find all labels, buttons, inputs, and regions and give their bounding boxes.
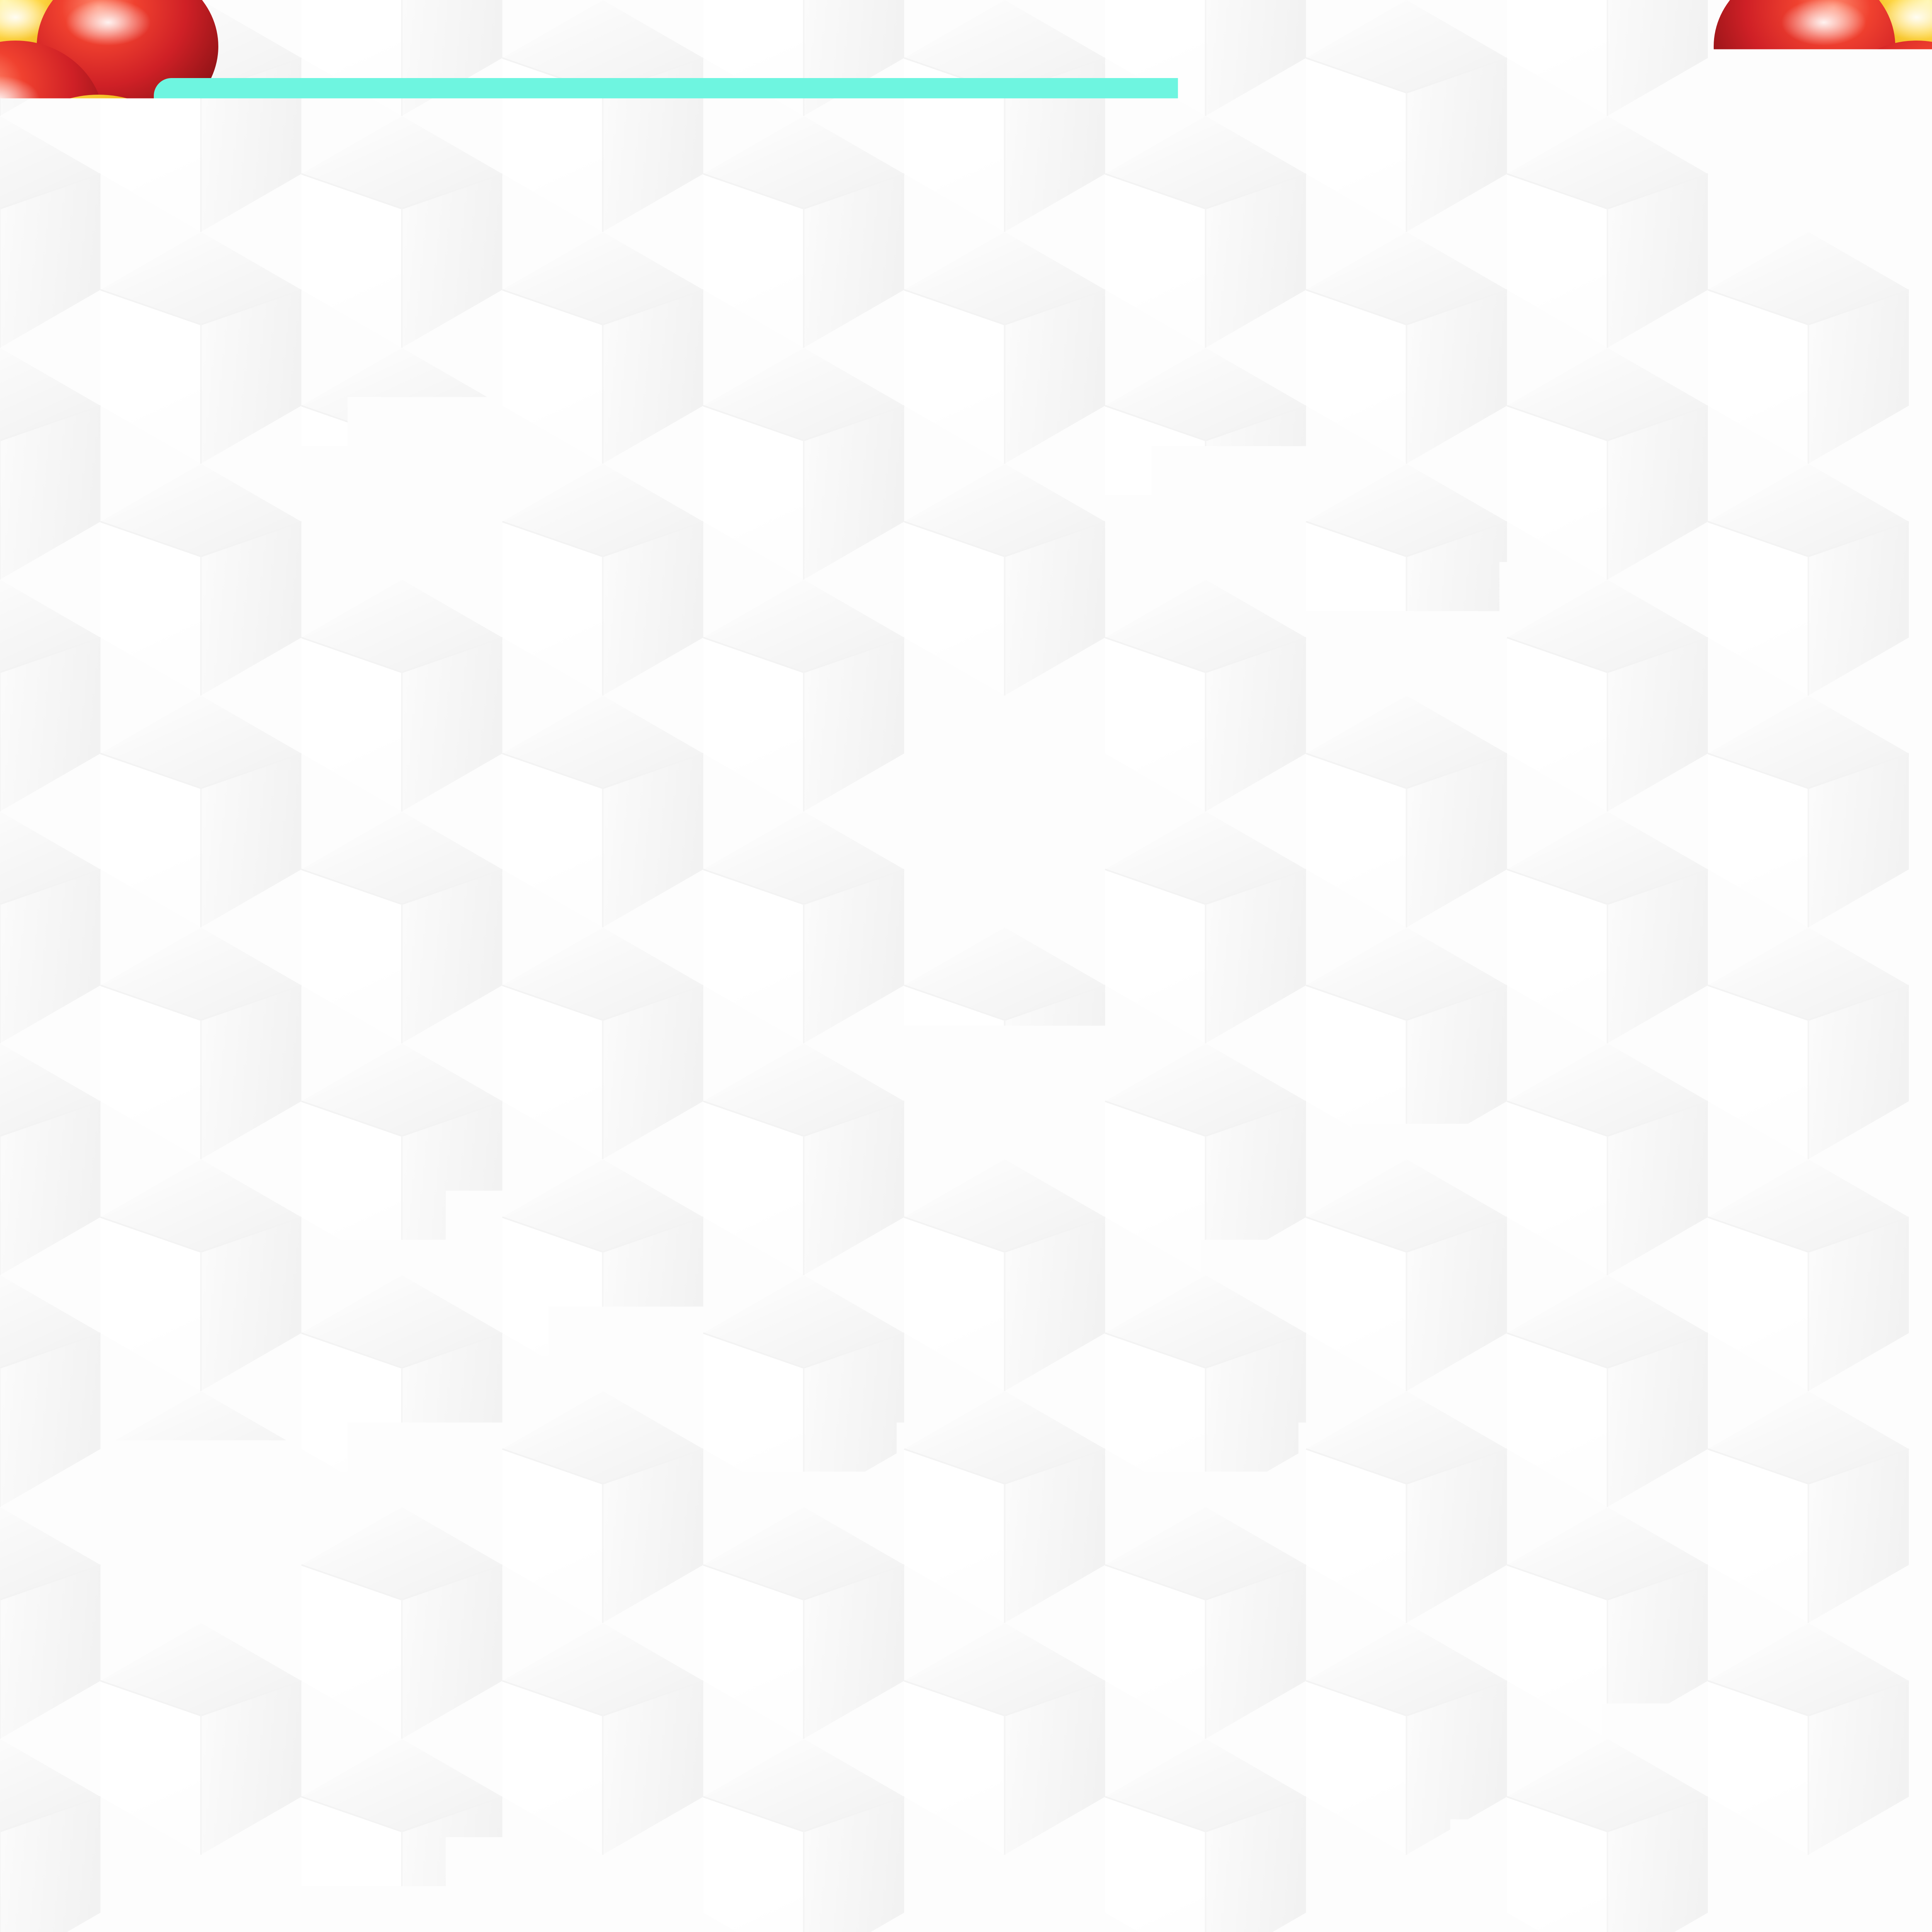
feature-item-5: 5. You can adjust the gaps lenth as per …: [70, 1747, 1485, 1803]
dimension-diagram: 4.5 Inch 6.5 Inch: [1519, 1314, 1905, 1777]
dimension-sample-flag: [1600, 1391, 1866, 1747]
bunting-flag-letter: E: [930, 653, 1001, 782]
bunting-flag: P: [910, 433, 1037, 634]
bunting-flag: N: [415, 667, 581, 889]
bunting-flag: I: [577, 650, 731, 866]
bunting-flag: Y: [1652, 726, 1841, 959]
bunting-flag: E: [902, 641, 1030, 842]
bunting-flag: S: [1201, 650, 1355, 866]
bunting-flag: A: [721, 439, 864, 649]
bunting-flag-letter: P: [1116, 453, 1190, 586]
feature-item-3-continued: definately make the theme decoration sta…: [70, 1516, 1485, 1573]
bunting-flag-letter: V: [765, 655, 858, 788]
bunting-banner-illustration: HAPPY ANNIVERSARY: [0, 406, 1932, 985]
feature-item-4: 4.Happy Anniversary Banner requires 5 mi…: [70, 1631, 1485, 1688]
page-title: HAPPY ANNIVERSARY BANNER: [90, 114, 1845, 235]
title-banner-band: HAPPY ANNIVERSARY BANNER: [154, 78, 1781, 270]
dimension-width-label: 4.5 Inch: [1623, 1308, 1870, 1350]
anniversary-flag-row: ANNIVERSARY: [91, 641, 1841, 959]
bunting-flag: R: [1502, 692, 1680, 920]
bunting-flag: A: [1351, 667, 1518, 889]
feature-item-3: 3.Happy Anniversary Banner feature theme…: [70, 1401, 1485, 1458]
bunting-flag-letter: R: [1077, 655, 1164, 788]
bunting-flag-letter: A: [747, 452, 841, 587]
feature-list: 1.Happy Anniversary Banner is made of ca…: [70, 1171, 1607, 1803]
bunting-flag: R: [1051, 641, 1192, 851]
bunting-flag-letter: P: [942, 445, 1006, 573]
bunting-flag: Y: [1258, 466, 1415, 685]
bunting-flag: P: [1084, 439, 1227, 649]
bunting-flag: A: [91, 726, 280, 959]
dimension-width-rule: [1589, 1361, 1871, 1367]
bunting-flag: N: [253, 692, 431, 920]
feature-item-1: 1.Happy Anniversary Banner is made of ca…: [70, 1171, 1485, 1227]
bunting-flag: V: [739, 641, 880, 851]
feature-item-2: 2.Click beautiful Selfies and Pictures f…: [70, 1286, 1485, 1342]
dimension-height-label: 6.5 Inch: [1525, 1451, 1566, 1651]
